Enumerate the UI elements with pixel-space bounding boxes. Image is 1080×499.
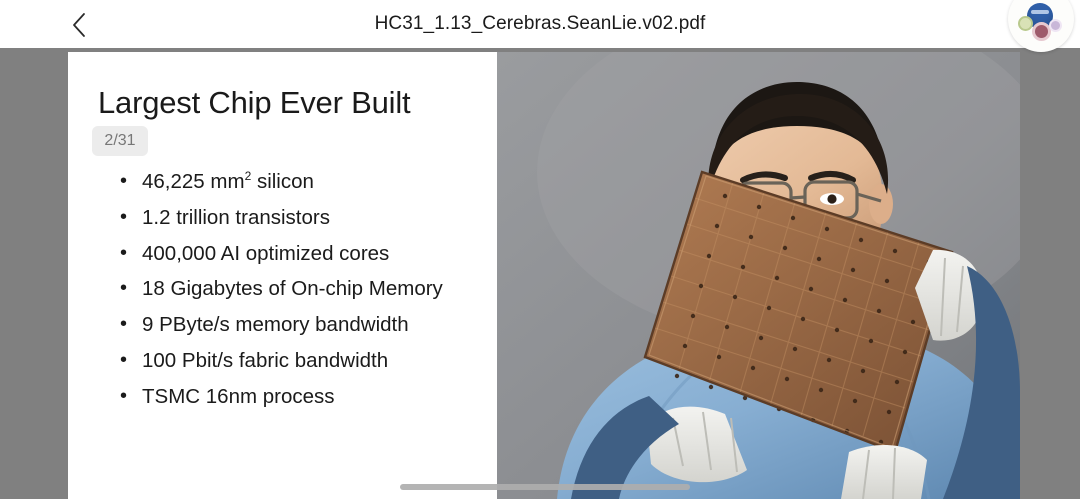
avatar-decoration-green-icon [1018, 16, 1033, 31]
chevron-left-icon [70, 11, 88, 39]
slide-bullet-list: 46,225 mm2 silicon 1.2 trillion transist… [116, 164, 516, 415]
back-button[interactable] [62, 8, 96, 42]
list-item: 46,225 mm2 silicon [116, 164, 516, 200]
bullet-text: 9 PByte/s memory bandwidth [142, 313, 409, 336]
list-item: 18 Gigabytes of On-chip Memory [116, 271, 516, 307]
bullet-text: 100 Pbit/s fabric bandwidth [142, 349, 388, 372]
top-bar: HC31_1.13_Cerebras.SeanLie.v02.pdf [0, 0, 1080, 48]
list-item: 1.2 trillion transistors [116, 200, 516, 236]
document-title: HC31_1.13_Cerebras.SeanLie.v02.pdf [0, 0, 1080, 48]
bullet-text: 46,225 mm [142, 170, 245, 193]
document-viewer[interactable]: Largest Chip Ever Built 46,225 mm2 silic… [0, 48, 1080, 499]
bullet-text: TSMC 16nm process [142, 385, 335, 408]
avatar-decoration-violet-icon [1049, 19, 1062, 32]
pdf-viewer-screen: HC31_1.13_Cerebras.SeanLie.v02.pdf Large… [0, 0, 1080, 499]
slide-photo [497, 52, 1020, 499]
slide-page: Largest Chip Ever Built 46,225 mm2 silic… [68, 52, 1020, 499]
list-item: 9 PByte/s memory bandwidth [116, 307, 516, 343]
bullet-text: 1.2 trillion transistors [142, 206, 330, 229]
page-indicator-badge: 2/31 [92, 126, 148, 156]
bullet-text: 400,000 AI optimized cores [142, 242, 389, 265]
bullet-text-tail: silicon [251, 170, 314, 193]
list-item: 100 Pbit/s fabric bandwidth [116, 343, 516, 379]
slide-title: Largest Chip Ever Built [98, 85, 410, 121]
slide-text-column: Largest Chip Ever Built 46,225 mm2 silic… [68, 52, 497, 499]
list-item: TSMC 16nm process [116, 379, 516, 415]
list-item: 400,000 AI optimized cores [116, 236, 516, 272]
bullet-text: 18 Gigabytes of On-chip Memory [142, 277, 443, 300]
horizontal-scrollbar-thumb[interactable] [400, 484, 690, 490]
